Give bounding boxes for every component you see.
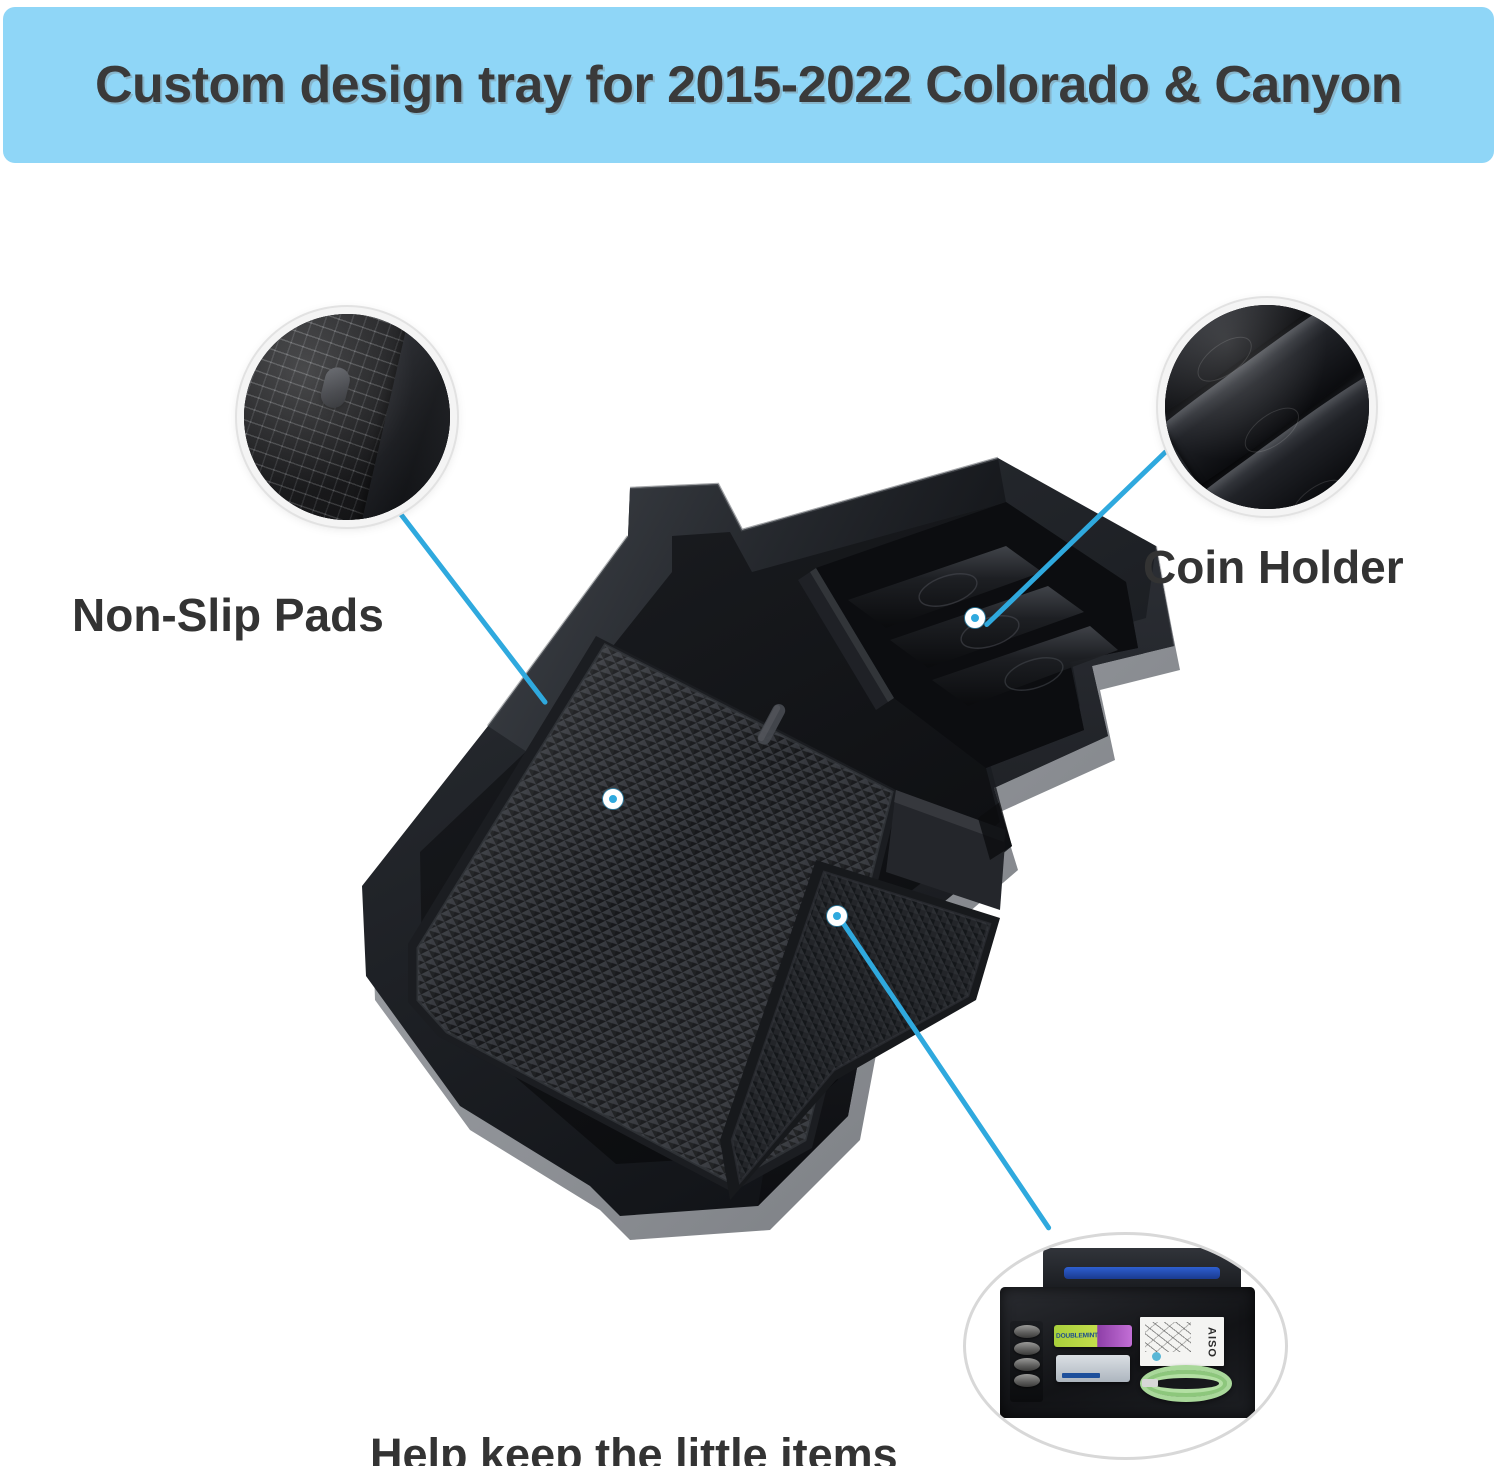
gum-pack-label: DOUBLEMINT: [1056, 1332, 1098, 1340]
pad-sheen-overlay: [234, 304, 460, 530]
blue-pen-icon: [1064, 1267, 1219, 1280]
callout-label-little-items-line1: Help keep the little items: [370, 1428, 898, 1466]
product-infographic: Custom design tray for 2015-2022 Colorad…: [0, 0, 1500, 1466]
card-brand-label: AISO: [1205, 1327, 1217, 1358]
filled-tray-scene: DOUBLEMINT AISO: [995, 1248, 1263, 1430]
tray-main-body: DOUBLEMINT AISO: [1000, 1287, 1255, 1418]
header-banner: Custom design tray for 2015-2022 Colorad…: [3, 7, 1494, 163]
callout-label-non-slip-pads: Non-Slip Pads: [72, 588, 384, 642]
clear-lighter-icon: [1056, 1355, 1130, 1383]
coin-icon: [1014, 1325, 1040, 1338]
coin-icon: [1014, 1342, 1040, 1355]
card-seal-icon: [1152, 1352, 1161, 1361]
card-diagram: [1145, 1322, 1191, 1352]
cable-tie-icon: [1142, 1379, 1158, 1386]
page-title: Custom design tray for 2015-2022 Colorad…: [3, 55, 1494, 115]
instruction-card-icon: AISO: [1140, 1317, 1224, 1367]
coin-column: [1010, 1321, 1043, 1402]
coin-sheen-overlay: [1165, 305, 1369, 509]
connector-dot-non-slip-pads: [603, 789, 623, 809]
connector-dot-little-items: [827, 906, 847, 926]
callout-label-coin-holder: Coin Holder: [1143, 540, 1404, 594]
green-coiled-cable-icon: [1140, 1365, 1232, 1402]
coin-icon: [1014, 1358, 1040, 1371]
filled-tray-closeup-icon: DOUBLEMINT AISO: [963, 1232, 1288, 1460]
coin-icon: [1014, 1374, 1040, 1387]
callout-label-little-items: Help keep the little items at hands reac…: [370, 1322, 898, 1466]
lighter-band: [1062, 1373, 1100, 1378]
textured-pad-closeup-icon: [226, 296, 468, 538]
gum-pack-icon: DOUBLEMINT: [1054, 1325, 1133, 1347]
coin-slot-closeup-icon: [1158, 298, 1376, 516]
connector-dot-coin-holder: [965, 608, 985, 628]
